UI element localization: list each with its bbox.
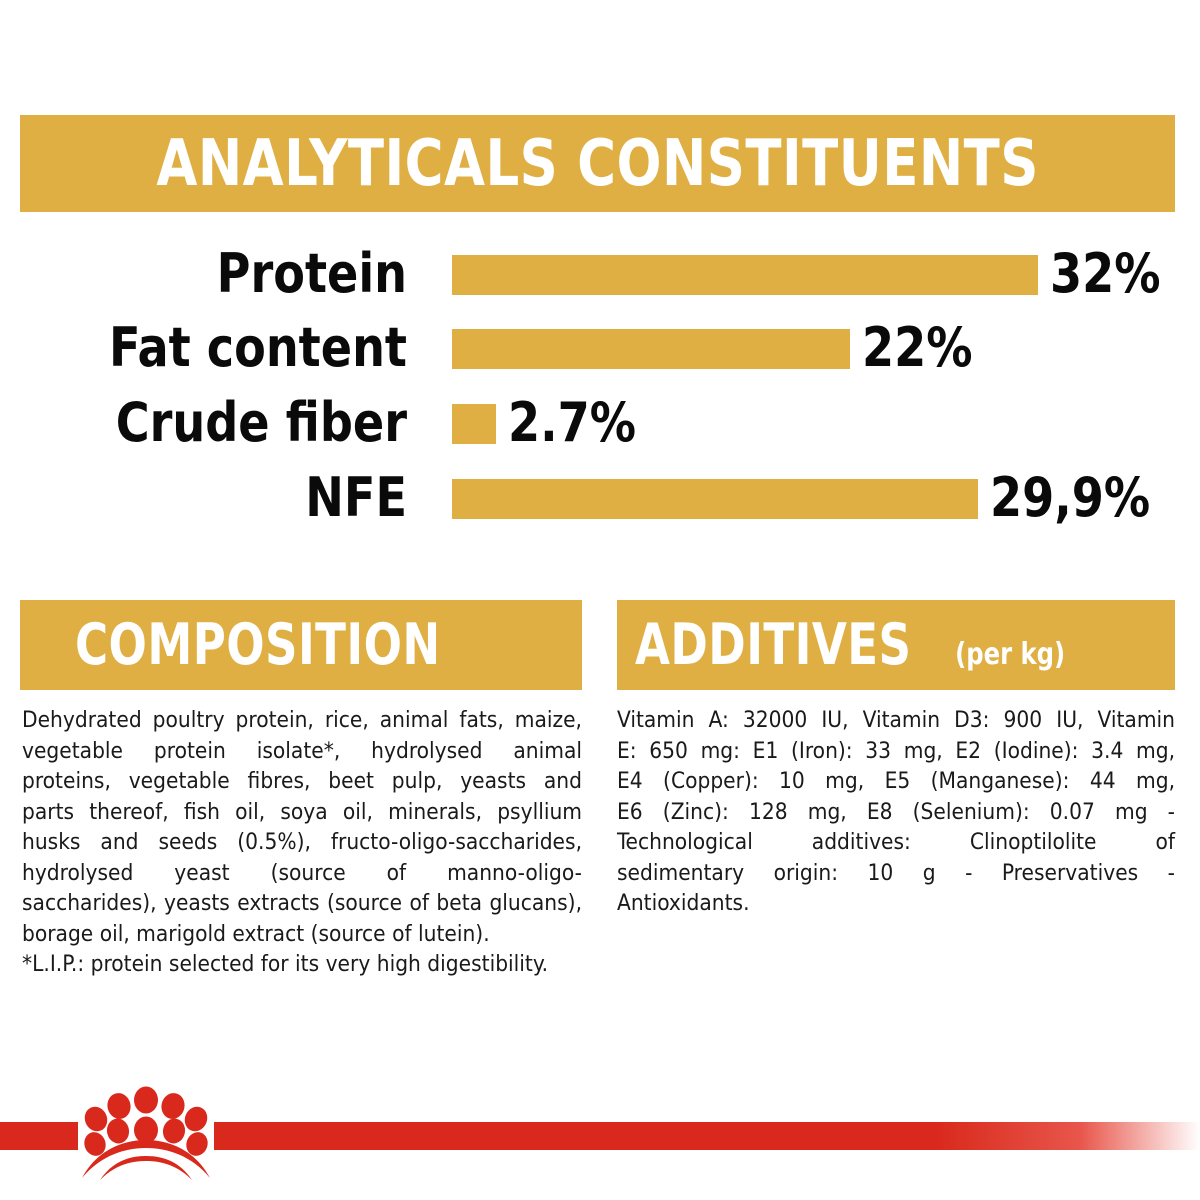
bar-row: NFE 29,9% [0,469,1200,527]
bar-track-nfe [452,479,978,519]
bar-value-protein: 32% [1050,245,1160,303]
bar-fill-nfe [452,479,978,519]
additives-per-kg-label: (per kg) [955,610,1065,700]
bar-fill-fat-content [452,329,850,369]
composition-line: vegetable protein isolate*, hydrolysed a… [22,736,582,767]
analyticals-constituents-title: ANALYTICALS CONSTITUENTS [156,127,1039,201]
bar-value-fat-content: 22% [862,319,972,377]
royal-canin-crown-icon [78,1086,214,1182]
composition-line: Dehydrated poultry protein, rice, animal… [22,705,582,736]
additives-line: Vitamin A: 32000 IU, Vitamin D3: 900 IU,… [617,705,1175,736]
additives-title: ADDITIVES [635,600,911,690]
composition-line: husks and seeds (0.5%), fructo-oligo-sac… [22,827,582,858]
additives-line: E: 650 mg: E1 (Iron): 33 mg, E2 (Iodine)… [617,736,1175,767]
bar-label-protein: Protein [58,245,407,303]
additives-banner: ADDITIVES (per kg) [617,600,1175,690]
bar-row: Protein 32% [0,245,1200,303]
constituents-bar-chart: Protein 32% Fat content 22% Crude fiber … [0,237,1200,532]
additives-line: Antioxidants. [617,888,1175,919]
product-info-panel: ANALYTICALS CONSTITUENTS Protein 32% Fat… [0,0,1200,1200]
composition-line: hydrolysed yeast (source of manno-oligo- [22,858,582,889]
bar-row: Fat content 22% [0,319,1200,377]
composition-banner: COMPOSITION [20,600,582,690]
bar-fill-protein [452,255,1038,295]
bar-fill-crude-fiber [452,404,496,444]
composition-body-text: Dehydrated poultry protein, rice, animal… [22,705,582,980]
bar-value-nfe: 29,9% [990,469,1150,527]
composition-line: saccharides), yeasts extracts (source of… [22,888,582,919]
bar-value-crude-fiber: 2.7% [508,394,636,452]
composition-line-lip: *L.I.P.: protein selected for its very h… [22,949,582,980]
additives-body-text: Vitamin A: 32000 IU, Vitamin D3: 900 IU,… [617,705,1175,919]
composition-title: COMPOSITION [75,612,441,678]
bar-track-crude-fiber [452,404,496,444]
bar-label-crude-fiber: Crude fiber [58,394,407,452]
additives-line: sedimentary origin: 10 g - Preservatives… [617,858,1175,889]
bar-label-nfe: NFE [58,469,407,527]
bar-track-fat-content [452,329,850,369]
analyticals-constituents-banner: ANALYTICALS CONSTITUENTS [20,115,1175,212]
bar-label-fat-content: Fat content [58,319,407,377]
composition-line: borage oil, marigold extract (source of … [22,919,582,950]
bar-track-protein [452,255,1038,295]
composition-line: parts thereof, fish oil, soya oil, miner… [22,797,582,828]
additives-line: E6 (Zinc): 128 mg, E8 (Selenium): 0.07 m… [617,797,1175,828]
additives-line: E4 (Copper): 10 mg, E5 (Manganese): 44 m… [617,766,1175,797]
bar-row: Crude fiber 2.7% [0,394,1200,452]
composition-line: proteins, vegetable fibres, beet pulp, y… [22,766,582,797]
additives-line: Technological additives: Clinoptilolite … [617,827,1175,858]
